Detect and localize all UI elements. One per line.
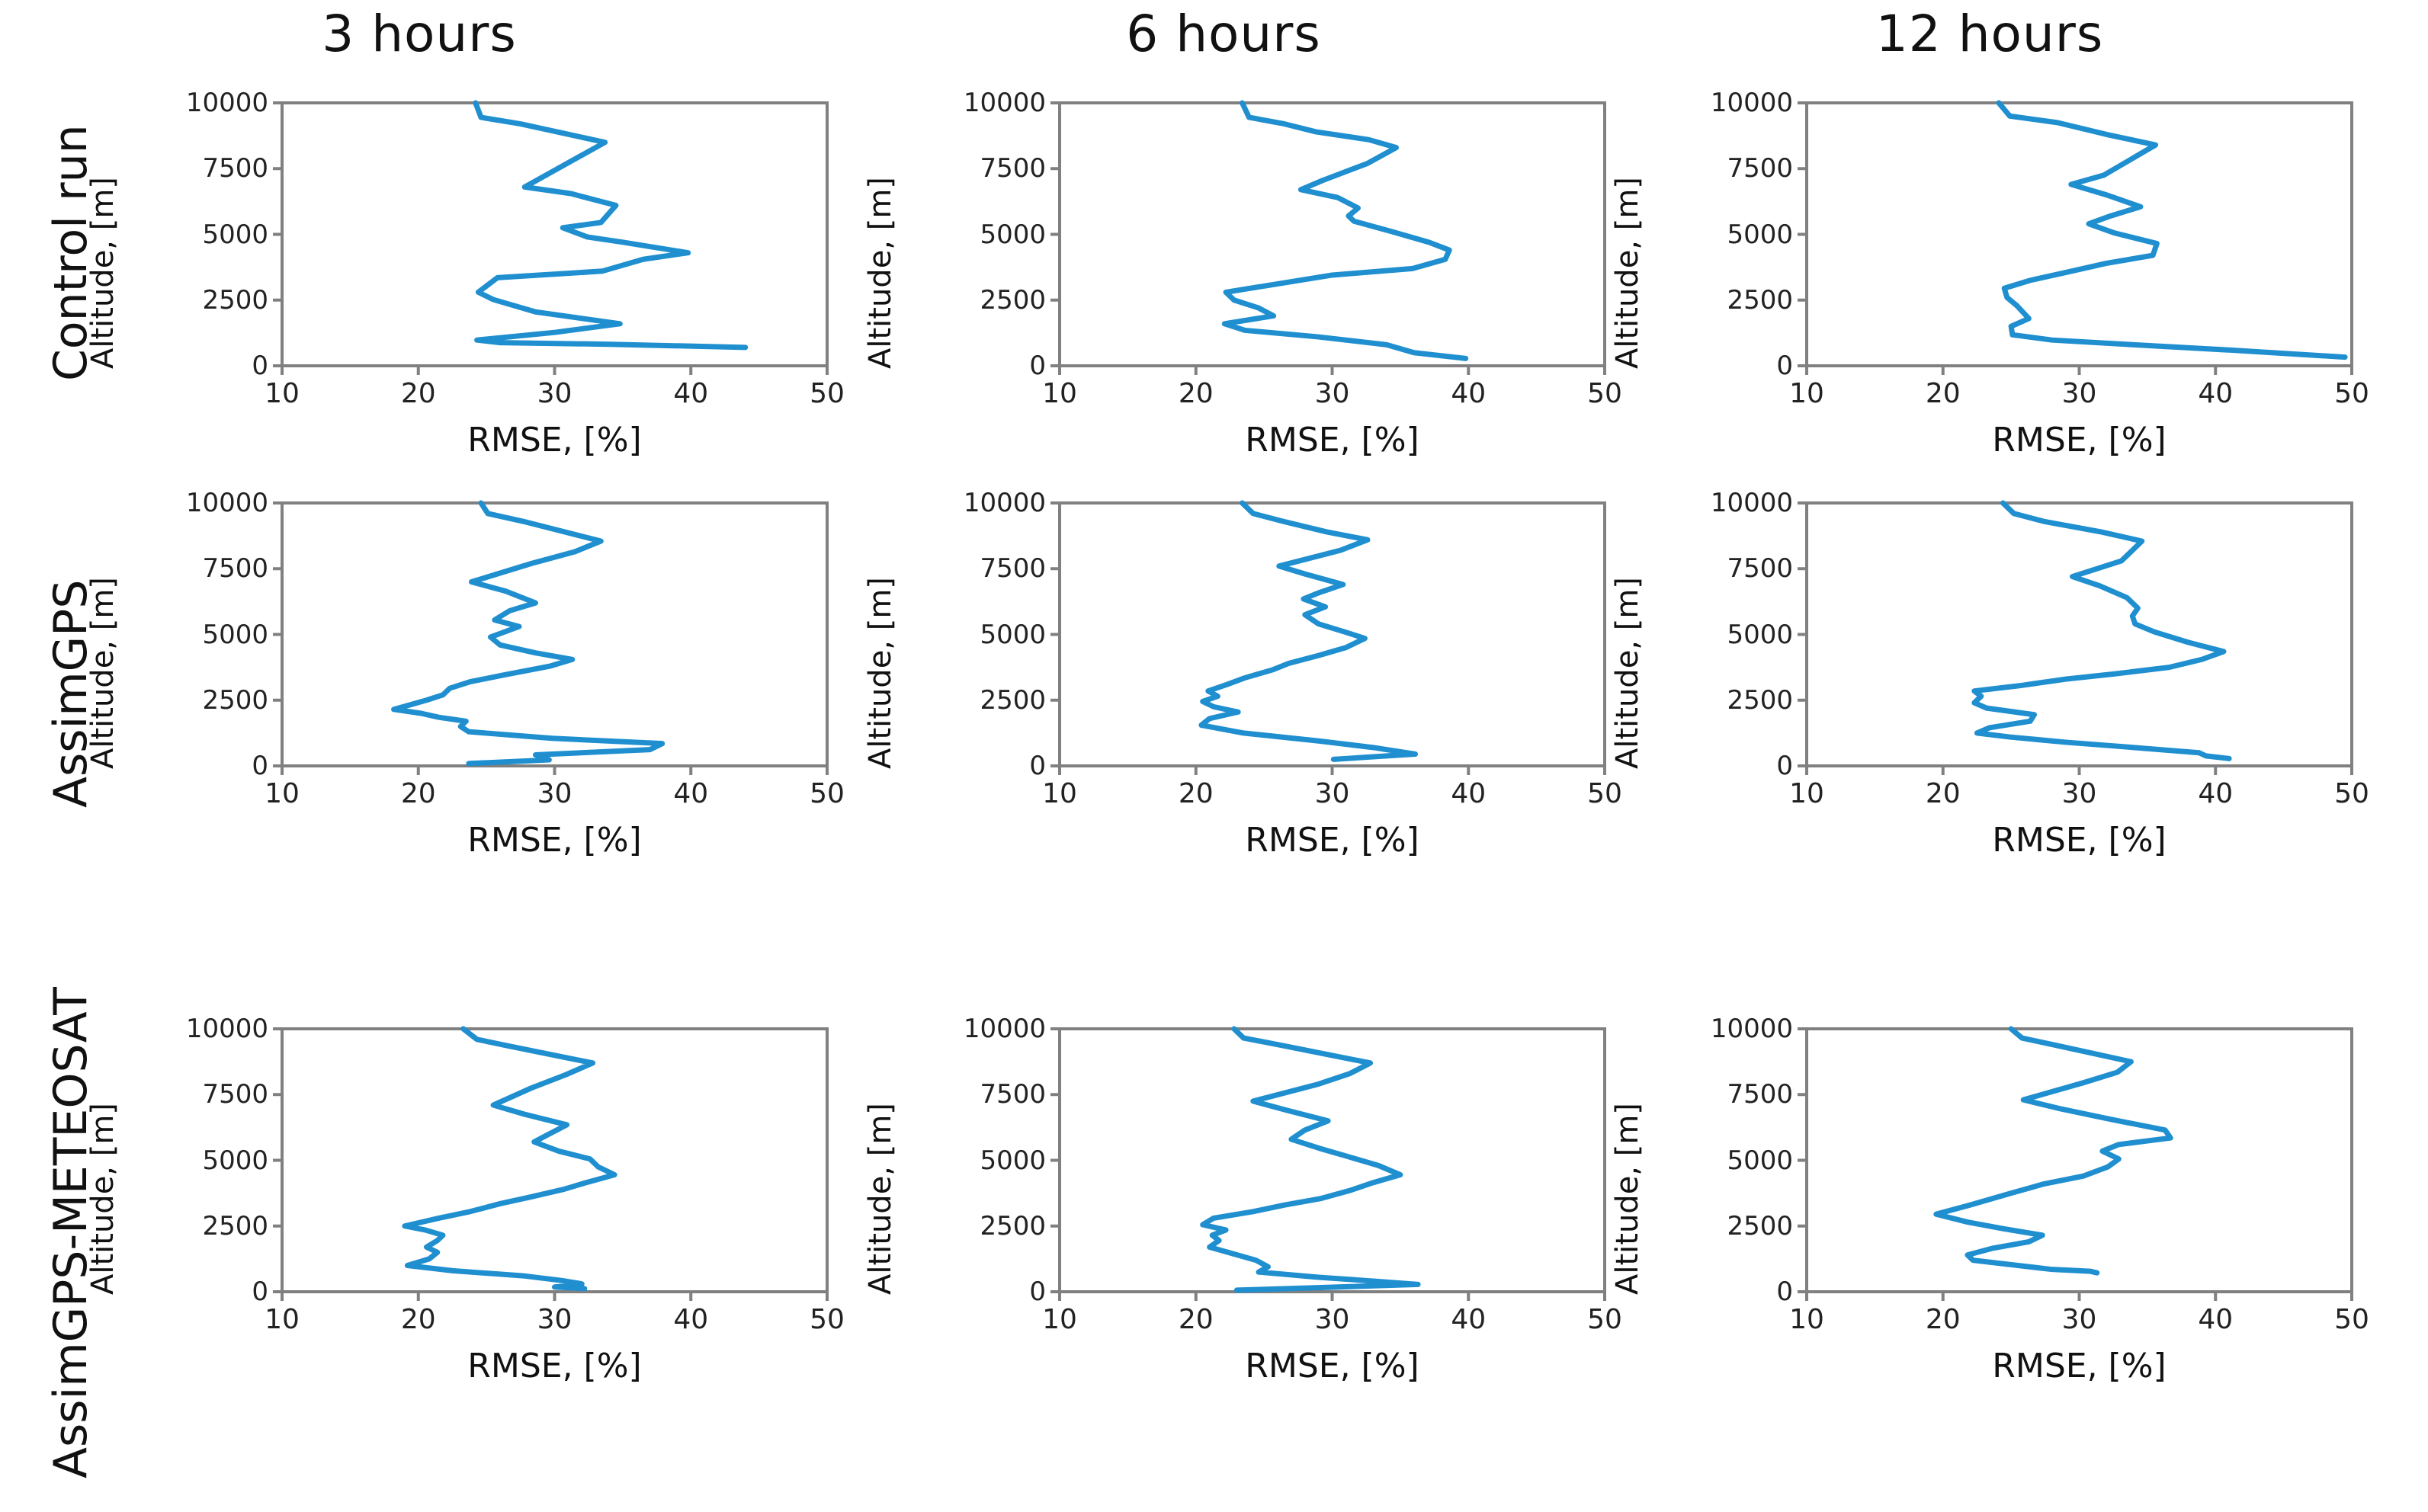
x-tick-label: 30 [2062, 1304, 2097, 1335]
x-tick-label: 30 [2062, 378, 2097, 409]
axes-frame [282, 103, 827, 366]
y-tick-label: 5000 [893, 1145, 1046, 1176]
y-tick-label: 7500 [1641, 153, 1793, 184]
axes-frame [1060, 503, 1605, 766]
y-tick-label: 10000 [893, 88, 1046, 118]
y-tick-label: 5000 [116, 1145, 268, 1176]
x-tick-label: 10 [265, 778, 300, 809]
x-tick-label: 10 [265, 1304, 300, 1335]
plot-area [282, 1029, 827, 1292]
y-tick-label: 2500 [1641, 685, 1793, 716]
plot-area [282, 503, 827, 766]
y-axis-label: Altitude, [m] [863, 177, 898, 369]
x-tick-label: 20 [1179, 778, 1214, 809]
x-tick-label: 50 [1587, 378, 1622, 409]
panel-2-3: Altitude, [m]025005000750010000102030405… [1807, 503, 2352, 766]
y-tick-label: 7500 [893, 153, 1046, 184]
y-tick-label: 7500 [116, 1079, 268, 1110]
y-tick-label: 2500 [1641, 285, 1793, 316]
x-tick-label: 50 [810, 778, 845, 809]
rmse-profile-line [1201, 503, 1416, 759]
y-tick-label: 7500 [893, 1079, 1046, 1110]
axes-frame [282, 1029, 827, 1292]
rmse-profile-line [1224, 103, 1465, 358]
x-tick-label: 10 [1042, 778, 1077, 809]
axes-frame [1807, 503, 2352, 766]
panel-3-2: Altitude, [m]025005000750010000102030405… [1060, 1029, 1605, 1292]
axes-frame [282, 503, 827, 766]
y-axis-label: Altitude, [m] [863, 577, 898, 769]
y-tick-label: 0 [893, 351, 1046, 381]
y-tick-label: 10000 [893, 1014, 1046, 1044]
x-tick-label: 20 [1179, 1304, 1214, 1335]
panel-3-3: Altitude, [m]025005000750010000102030405… [1807, 1029, 2352, 1292]
column-title-12-hours: 12 hours [1723, 5, 2256, 63]
x-tick-label: 30 [1315, 378, 1350, 409]
axes-frame [1060, 1029, 1605, 1292]
x-tick-label: 20 [401, 378, 436, 409]
y-tick-label: 7500 [1641, 1079, 1793, 1110]
x-axis-label: RMSE, [%] [1060, 421, 1605, 460]
y-tick-label: 0 [893, 1277, 1046, 1307]
rmse-profile-line [405, 1029, 614, 1289]
plot-area [1060, 503, 1605, 766]
x-tick-label: 50 [2334, 1304, 2369, 1335]
plot-area [1060, 103, 1605, 366]
x-tick-label: 20 [1179, 378, 1214, 409]
axes-frame [1807, 103, 2352, 366]
y-tick-label: 7500 [116, 553, 268, 584]
y-tick-label: 10000 [116, 488, 268, 518]
x-tick-label: 40 [2198, 378, 2233, 409]
x-tick-label: 30 [537, 778, 573, 809]
x-axis-label: RMSE, [%] [282, 821, 827, 860]
x-tick-label: 50 [1587, 778, 1622, 809]
rmse-profile-line [1936, 1029, 2170, 1273]
rmse-profile-figure: 3 hours 6 hours 12 hours Control run Ass… [0, 0, 2428, 1512]
y-axis-label: Altitude, [m] [1610, 577, 1645, 769]
y-tick-label: 7500 [116, 153, 268, 184]
x-tick-label: 30 [2062, 778, 2097, 809]
x-tick-label: 20 [1926, 378, 1961, 409]
y-tick-label: 7500 [1641, 553, 1793, 584]
x-tick-label: 20 [1926, 778, 1961, 809]
x-tick-label: 10 [1042, 378, 1077, 409]
y-tick-label: 0 [1641, 751, 1793, 781]
plot-area [282, 103, 827, 366]
column-title-3-hours: 3 hours [152, 5, 686, 63]
y-tick-label: 5000 [893, 219, 1046, 250]
x-tick-label: 10 [1789, 778, 1824, 809]
x-tick-label: 40 [1451, 1304, 1486, 1335]
panel-1-3: Altitude, [m]025005000750010000102030405… [1807, 103, 2352, 366]
x-axis-label: RMSE, [%] [1060, 821, 1605, 860]
x-tick-label: 30 [1315, 778, 1350, 809]
x-tick-label: 40 [673, 378, 708, 409]
x-tick-label: 40 [2198, 778, 2233, 809]
panel-1-1: Altitude, [m]025005000750010000102030405… [282, 103, 827, 366]
x-tick-label: 30 [1315, 1304, 1350, 1335]
x-tick-label: 50 [810, 378, 845, 409]
y-tick-label: 10000 [893, 488, 1046, 518]
y-axis-label: Altitude, [m] [85, 577, 120, 769]
y-tick-label: 0 [116, 751, 268, 781]
y-axis-label: Altitude, [m] [85, 1103, 120, 1295]
y-tick-label: 0 [116, 1277, 268, 1307]
x-axis-label: RMSE, [%] [1060, 1347, 1605, 1385]
panel-3-1: Altitude, [m]025005000750010000102030405… [282, 1029, 827, 1292]
x-axis-label: RMSE, [%] [282, 421, 827, 460]
plot-area [1807, 1029, 2352, 1292]
y-tick-label: 10000 [1641, 488, 1793, 518]
y-tick-label: 0 [893, 751, 1046, 781]
x-tick-label: 30 [537, 378, 573, 409]
y-tick-label: 10000 [116, 1014, 268, 1044]
rmse-profile-line [476, 103, 746, 348]
y-axis-label: Altitude, [m] [1610, 177, 1645, 369]
x-tick-label: 40 [673, 778, 708, 809]
y-axis-label: Altitude, [m] [1610, 1103, 1645, 1295]
x-tick-label: 50 [1587, 1304, 1622, 1335]
x-axis-label: RMSE, [%] [1807, 421, 2352, 460]
x-axis-label: RMSE, [%] [282, 1347, 827, 1385]
panel-1-2: Altitude, [m]025005000750010000102030405… [1060, 103, 1605, 366]
y-axis-label: Altitude, [m] [85, 177, 120, 369]
plot-area [1060, 1029, 1605, 1292]
y-tick-label: 5000 [116, 620, 268, 650]
y-tick-label: 10000 [1641, 1014, 1793, 1044]
x-tick-label: 10 [1789, 1304, 1824, 1335]
y-tick-label: 2500 [893, 685, 1046, 716]
x-tick-label: 10 [265, 378, 300, 409]
plot-area [1807, 503, 2352, 766]
rmse-profile-line [1974, 503, 2229, 758]
y-tick-label: 10000 [1641, 88, 1793, 118]
y-tick-label: 0 [1641, 351, 1793, 381]
x-tick-label: 20 [1926, 1304, 1961, 1335]
y-tick-label: 0 [116, 351, 268, 381]
axes-frame [1807, 1029, 2352, 1292]
y-axis-label: Altitude, [m] [863, 1103, 898, 1295]
x-tick-label: 50 [2334, 778, 2369, 809]
y-tick-label: 5000 [893, 620, 1046, 650]
y-tick-label: 2500 [116, 1211, 268, 1241]
x-tick-label: 40 [1451, 778, 1486, 809]
y-tick-label: 10000 [116, 88, 268, 118]
y-tick-label: 0 [1641, 1277, 1793, 1307]
x-axis-label: RMSE, [%] [1807, 1347, 2352, 1385]
column-title-6-hours: 6 hours [957, 5, 1490, 63]
x-tick-label: 40 [673, 1304, 708, 1335]
y-tick-label: 2500 [1641, 1211, 1793, 1241]
y-tick-label: 5000 [1641, 620, 1793, 650]
y-tick-label: 5000 [1641, 1145, 1793, 1176]
axes-frame [1060, 103, 1605, 366]
x-tick-label: 50 [2334, 378, 2369, 409]
rmse-profile-line [394, 503, 662, 764]
y-tick-label: 2500 [116, 685, 268, 716]
x-tick-label: 50 [810, 1304, 845, 1335]
y-tick-label: 2500 [893, 1211, 1046, 1241]
x-tick-label: 10 [1789, 378, 1824, 409]
plot-area [1807, 103, 2352, 366]
x-tick-label: 40 [1451, 378, 1486, 409]
x-tick-label: 20 [401, 1304, 436, 1335]
x-tick-label: 10 [1042, 1304, 1077, 1335]
rmse-profile-line [1999, 103, 2345, 357]
y-tick-label: 2500 [893, 285, 1046, 316]
panel-2-1: Altitude, [m]025005000750010000102030405… [282, 503, 827, 766]
y-tick-label: 7500 [893, 553, 1046, 584]
y-tick-label: 5000 [1641, 219, 1793, 250]
x-tick-label: 30 [537, 1304, 573, 1335]
panel-2-2: Altitude, [m]025005000750010000102030405… [1060, 503, 1605, 766]
y-tick-label: 2500 [116, 285, 268, 316]
y-tick-label: 5000 [116, 219, 268, 250]
x-axis-label: RMSE, [%] [1807, 821, 2352, 860]
x-tick-label: 40 [2198, 1304, 2233, 1335]
x-tick-label: 20 [401, 778, 436, 809]
rmse-profile-line [1203, 1029, 1418, 1290]
